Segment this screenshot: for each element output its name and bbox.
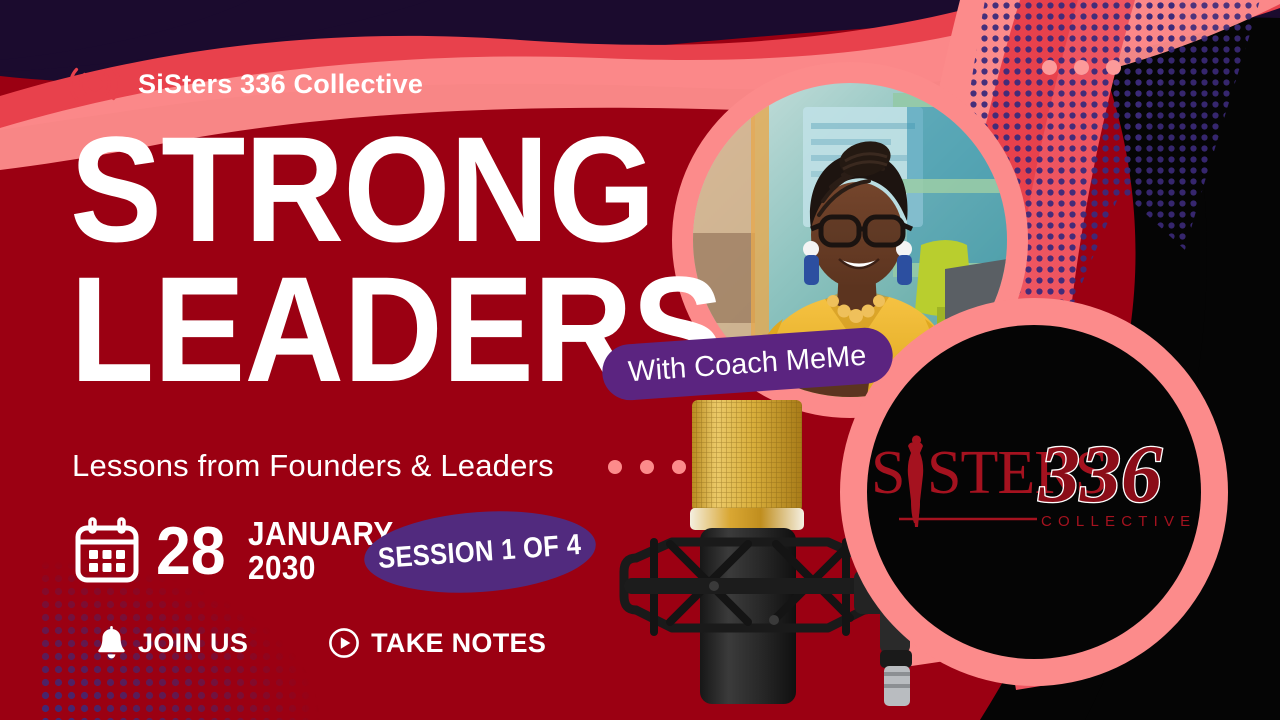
logo-tagline: COLLECTIVE (1041, 513, 1196, 530)
logo-number: 336 (1038, 428, 1162, 519)
dot (1042, 60, 1057, 75)
dot (608, 460, 622, 474)
dot (1074, 60, 1089, 75)
bell-icon (96, 626, 127, 660)
poster-canvas: SiSters 336 Collective STRONG LEADERS Le… (0, 0, 1280, 720)
female-figure-icon (908, 435, 923, 527)
headline-line-1: STRONG (70, 120, 723, 260)
play-circle-icon (328, 627, 360, 659)
dot (1106, 60, 1121, 75)
dot (672, 460, 686, 474)
take-notes-button[interactable]: TAKE NOTES (328, 627, 546, 659)
join-us-label: JOIN US (138, 628, 248, 659)
dot-trio-top (1042, 60, 1121, 75)
calendar-icon (72, 516, 142, 586)
logo-frame: S STERS 336 COLLECTIVE (840, 298, 1228, 686)
subtitle: Lessons from Founders & Leaders (72, 448, 554, 484)
take-notes-label: TAKE NOTES (371, 628, 546, 659)
coach-badge-label: With Coach MeMe (627, 339, 867, 389)
date-day: 28 (156, 517, 226, 585)
join-us-button[interactable]: JOIN US (96, 626, 248, 660)
logo-disc[interactable]: S STERS 336 COLLECTIVE (867, 325, 1201, 659)
dot (640, 460, 654, 474)
broadcast-live-icon (70, 62, 120, 106)
logo-word: S (871, 439, 904, 507)
event-date: 28 JANUARY 2030 (72, 516, 409, 586)
brand-row: SiSters 336 Collective (70, 62, 423, 106)
brand-name: SiSters 336 Collective (138, 69, 423, 100)
session-badge-label: SESSION 1 OF 4 (377, 528, 582, 575)
cta-row: JOIN US TAKE NOTES (96, 626, 546, 660)
dot-trio-subtitle (608, 460, 686, 474)
sisters-336-collective-logo: S STERS 336 COLLECTIVE (869, 427, 1199, 557)
